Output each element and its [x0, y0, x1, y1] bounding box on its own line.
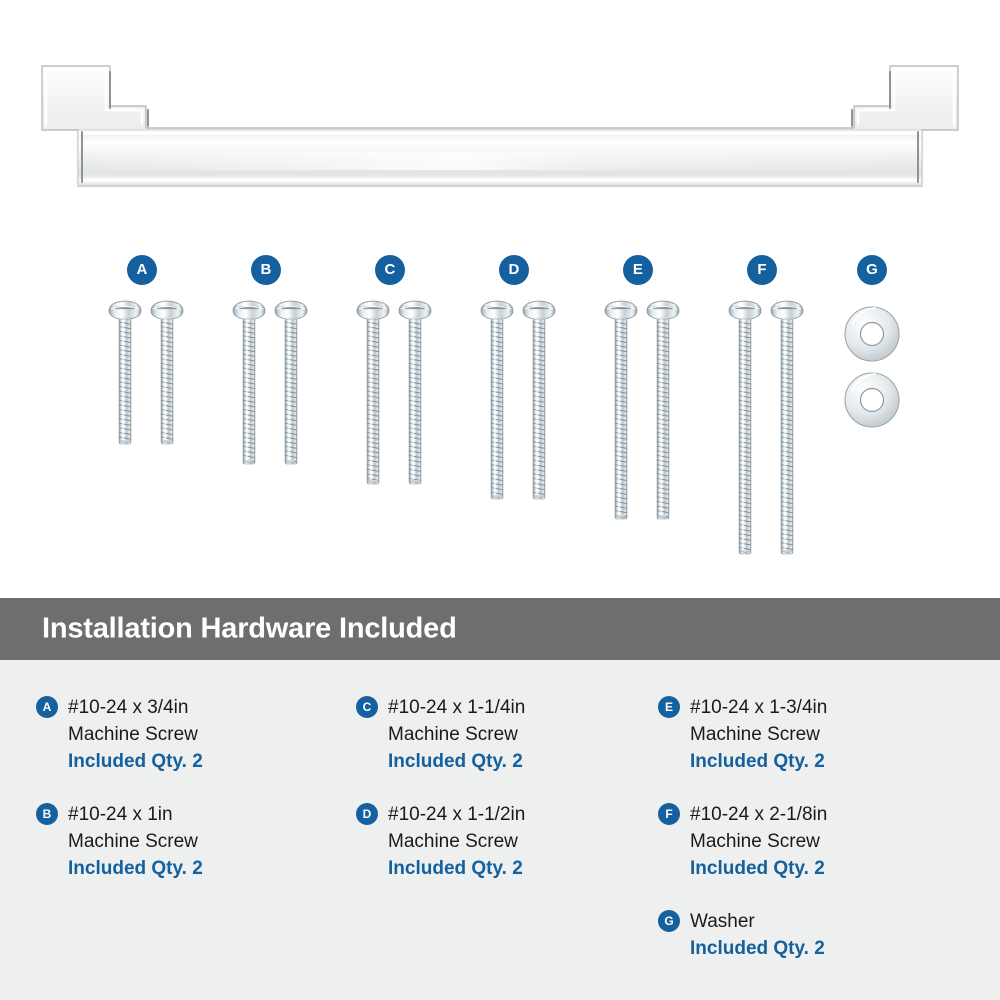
machine-screw-icon	[770, 299, 804, 556]
machine-screw-icon	[398, 299, 432, 486]
legend-part-type-line: Machine Screw	[388, 721, 656, 748]
legend-part-type-line: Machine Screw	[690, 721, 958, 748]
legend-spec-line: #10-24 x 2-1/8in	[690, 801, 958, 828]
legend-spec-line: #10-24 x 1-1/2in	[388, 801, 656, 828]
legend-spec-line: #10-24 x 3/4in	[68, 694, 336, 721]
legend-item-e: E#10-24 x 1-3/4inMachine ScrewIncluded Q…	[658, 694, 958, 775]
hardware-legend-panel: A#10-24 x 3/4inMachine ScrewIncluded Qty…	[0, 660, 1000, 1000]
machine-screw-icon	[604, 299, 638, 521]
screw-pair-c	[356, 299, 432, 486]
legend-part-type-line: Machine Screw	[690, 828, 958, 855]
machine-screw-icon	[728, 299, 762, 556]
hardware-badge-f: F	[747, 255, 777, 285]
machine-screw-icon	[274, 299, 308, 466]
legend-column-3: E#10-24 x 1-3/4inMachine ScrewIncluded Q…	[658, 694, 958, 988]
legend-badge-f: F	[658, 803, 680, 825]
legend-quantity: Included Qty. 2	[690, 935, 958, 962]
legend-spec-line: #10-24 x 1-1/4in	[388, 694, 656, 721]
machine-screw-icon	[522, 299, 556, 501]
legend-quantity: Included Qty. 2	[68, 855, 336, 882]
installation-hardware-banner: Installation Hardware Included	[0, 598, 1000, 660]
legend-quantity: Included Qty. 2	[690, 855, 958, 882]
legend-item-d: D#10-24 x 1-1/2inMachine ScrewIncluded Q…	[356, 801, 656, 882]
hardware-badge-d: D	[499, 255, 529, 285]
screw-pair-e	[604, 299, 680, 521]
handle-bottom-highlight	[80, 178, 920, 182]
screw-pair-d	[480, 299, 556, 501]
legend-part-type-line: Machine Screw	[68, 721, 336, 748]
handle-sheen	[80, 152, 920, 170]
legend-column-1: A#10-24 x 3/4inMachine ScrewIncluded Qty…	[36, 694, 336, 908]
screw-pair-b	[232, 299, 308, 466]
hardware-badge-g: G	[857, 255, 887, 285]
legend-column-2: C#10-24 x 1-1/4inMachine ScrewIncluded Q…	[356, 694, 656, 908]
cabinet-pull-handle	[36, 58, 964, 193]
machine-screw-icon	[356, 299, 390, 486]
legend-quantity: Included Qty. 2	[388, 748, 656, 775]
hardware-badge-c: C	[375, 255, 405, 285]
legend-badge-b: B	[36, 803, 58, 825]
machine-screw-icon	[150, 299, 184, 446]
machine-screw-icon	[480, 299, 514, 501]
legend-badge-g: G	[658, 910, 680, 932]
legend-part-type-line: Machine Screw	[388, 828, 656, 855]
legend-part-type-line: Machine Screw	[68, 828, 336, 855]
legend-item-a: A#10-24 x 3/4inMachine ScrewIncluded Qty…	[36, 694, 336, 775]
legend-item-f: F#10-24 x 2-1/8inMachine ScrewIncluded Q…	[658, 801, 958, 882]
legend-badge-c: C	[356, 696, 378, 718]
hardware-badge-b: B	[251, 255, 281, 285]
hardware-badge-a: A	[127, 255, 157, 285]
legend-badge-a: A	[36, 696, 58, 718]
washer-stack	[843, 305, 901, 429]
product-image-area: A	[0, 0, 1000, 598]
legend-spec-line: Washer	[690, 908, 958, 935]
banner-title: Installation Hardware Included	[42, 613, 457, 646]
screw-pair-a	[108, 299, 184, 446]
legend-quantity: Included Qty. 2	[690, 748, 958, 775]
legend-quantity: Included Qty. 2	[388, 855, 656, 882]
washer-icon	[843, 371, 901, 429]
legend-badge-d: D	[356, 803, 378, 825]
legend-quantity: Included Qty. 2	[68, 748, 336, 775]
handle-top-highlight	[80, 132, 920, 135]
machine-screw-icon	[646, 299, 680, 521]
legend-spec-line: #10-24 x 1-3/4in	[690, 694, 958, 721]
hardware-badge-e: E	[623, 255, 653, 285]
legend-item-b: B#10-24 x 1inMachine ScrewIncluded Qty. …	[36, 801, 336, 882]
legend-item-c: C#10-24 x 1-1/4inMachine ScrewIncluded Q…	[356, 694, 656, 775]
legend-badge-e: E	[658, 696, 680, 718]
screw-pair-f	[728, 299, 804, 556]
hardware-row: A	[0, 255, 1000, 555]
machine-screw-icon	[108, 299, 142, 446]
washer-icon	[843, 305, 901, 363]
legend-spec-line: #10-24 x 1in	[68, 801, 336, 828]
machine-screw-icon	[232, 299, 266, 466]
legend-item-g: GWasherIncluded Qty. 2	[658, 908, 958, 962]
handle-illustration-svg	[36, 58, 964, 193]
